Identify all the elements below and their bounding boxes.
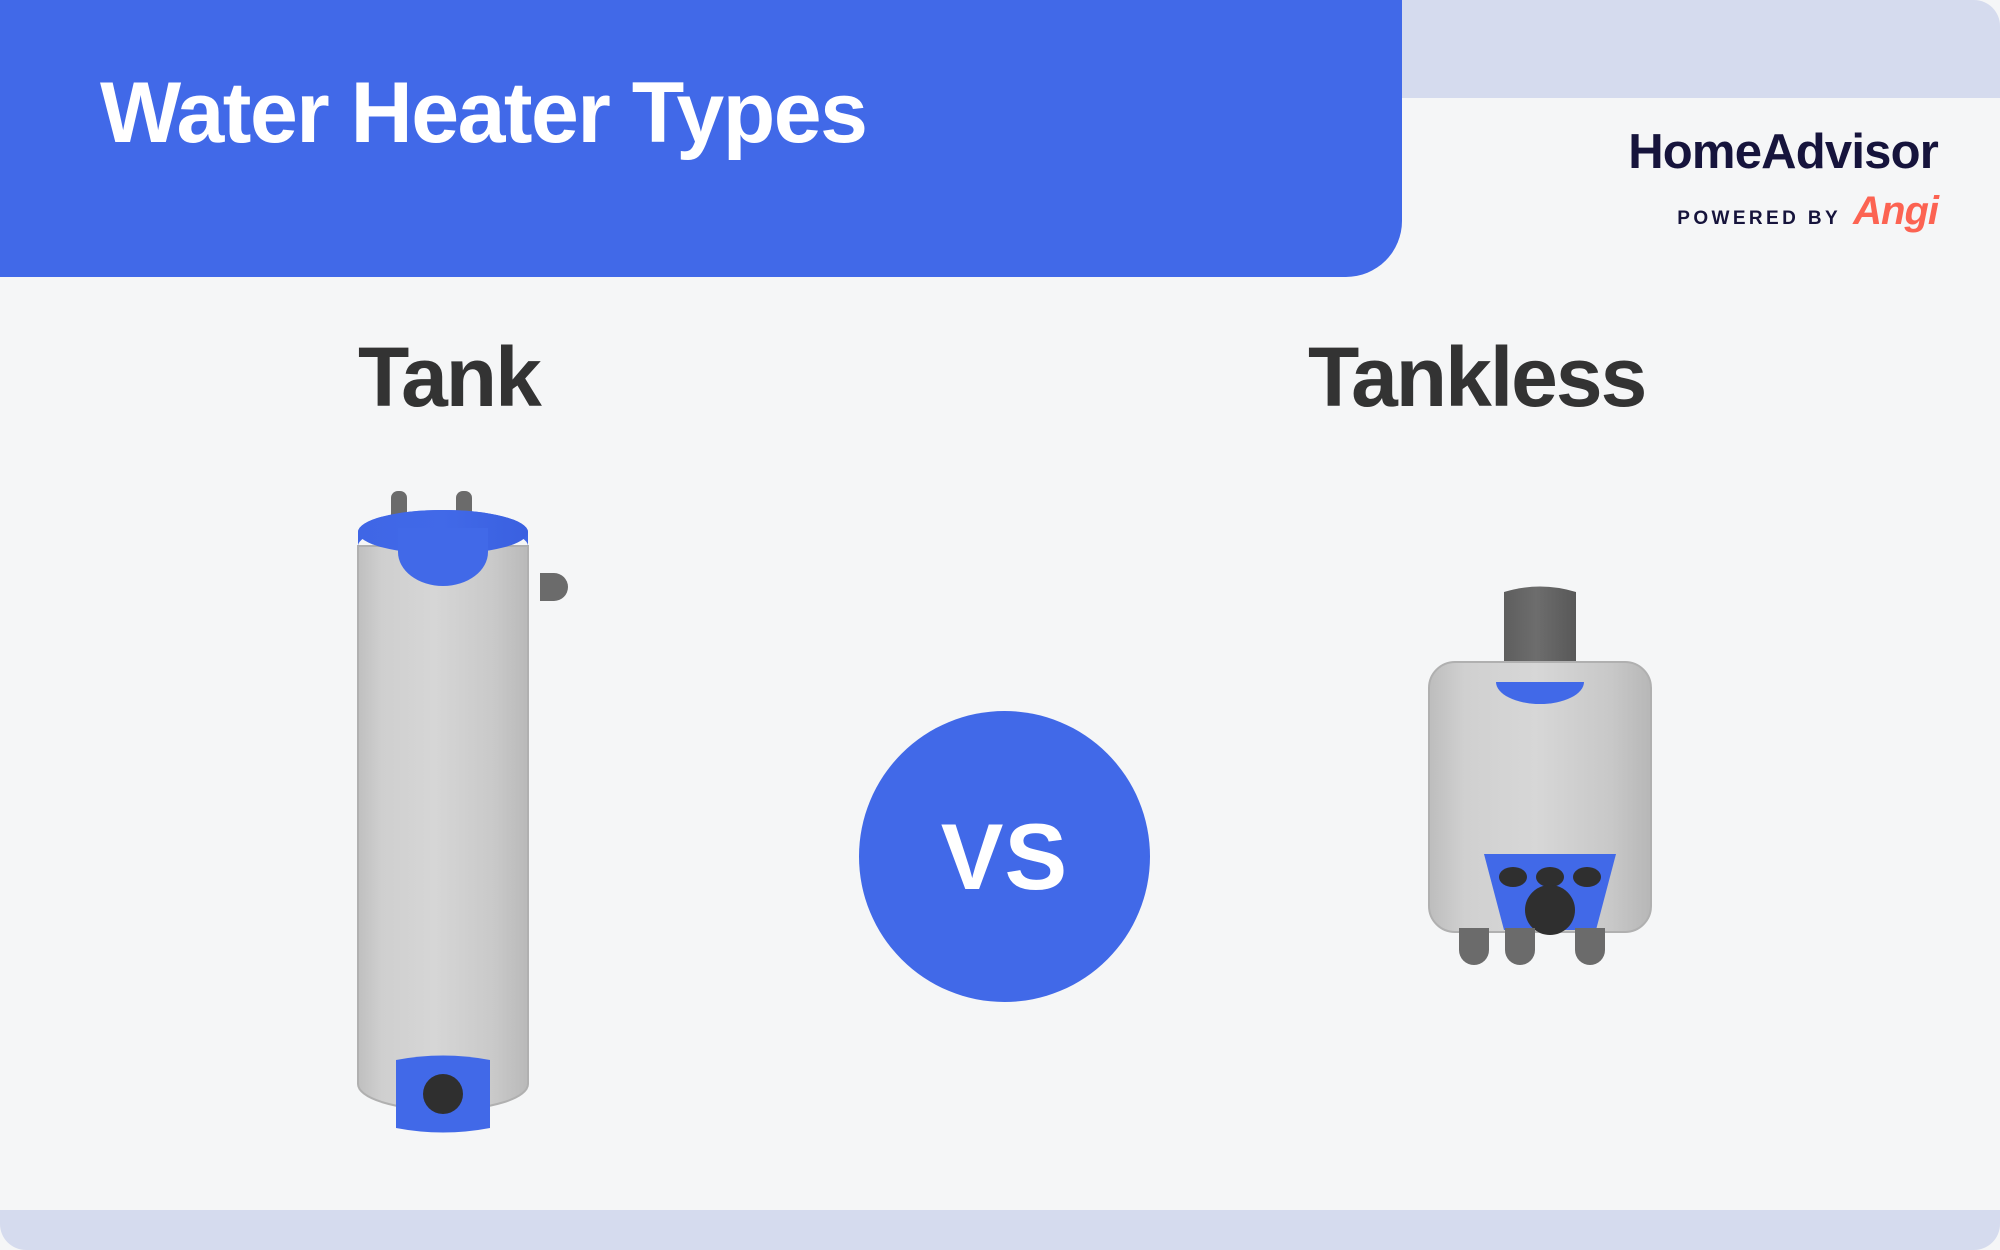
header-banner: Water Heater Types [0, 0, 1402, 277]
brand-logo: HomeAdvisor POWERED BY Angi [1628, 128, 1938, 231]
tankless-pipe-stub-2-icon [1505, 928, 1535, 965]
bottom-accent-band [0, 1210, 2000, 1250]
tankless-control-dial-icon [1525, 885, 1575, 935]
page-title: Water Heater Types [100, 68, 866, 158]
tankless-exhaust-flue-icon [1504, 587, 1576, 667]
powered-by-label: POWERED BY [1677, 208, 1841, 230]
tank-body [358, 546, 528, 1110]
brand-tagline: POWERED BY Angi [1628, 191, 1938, 231]
tankless-water-heater-illustration [1400, 570, 1720, 1060]
tankless-pipe-stub-1-icon [1459, 928, 1489, 965]
tank-water-heater-illustration [330, 480, 670, 1160]
infographic-canvas: Water Heater Types HomeAdvisor POWERED B… [0, 0, 2000, 1250]
brand-name-angi: Angi [1853, 191, 1938, 231]
column-heading-tank: Tank [358, 335, 540, 419]
column-heading-tankless: Tankless [1308, 335, 1645, 419]
top-accent-band [1402, 0, 2000, 98]
tankless-indicator-light-1-icon [1499, 867, 1527, 887]
tankless-indicator-light-3-icon [1573, 867, 1601, 887]
vs-label: VS [941, 810, 1068, 904]
tank-thermostat-dial-icon [423, 1074, 463, 1114]
vs-divider-badge: VS [859, 711, 1150, 1002]
tankless-indicator-light-2-icon [1536, 867, 1564, 887]
tank-side-knob-icon [540, 573, 568, 601]
tankless-pipe-stub-3-icon [1575, 928, 1605, 965]
brand-name-homeadvisor: HomeAdvisor [1628, 128, 1938, 177]
